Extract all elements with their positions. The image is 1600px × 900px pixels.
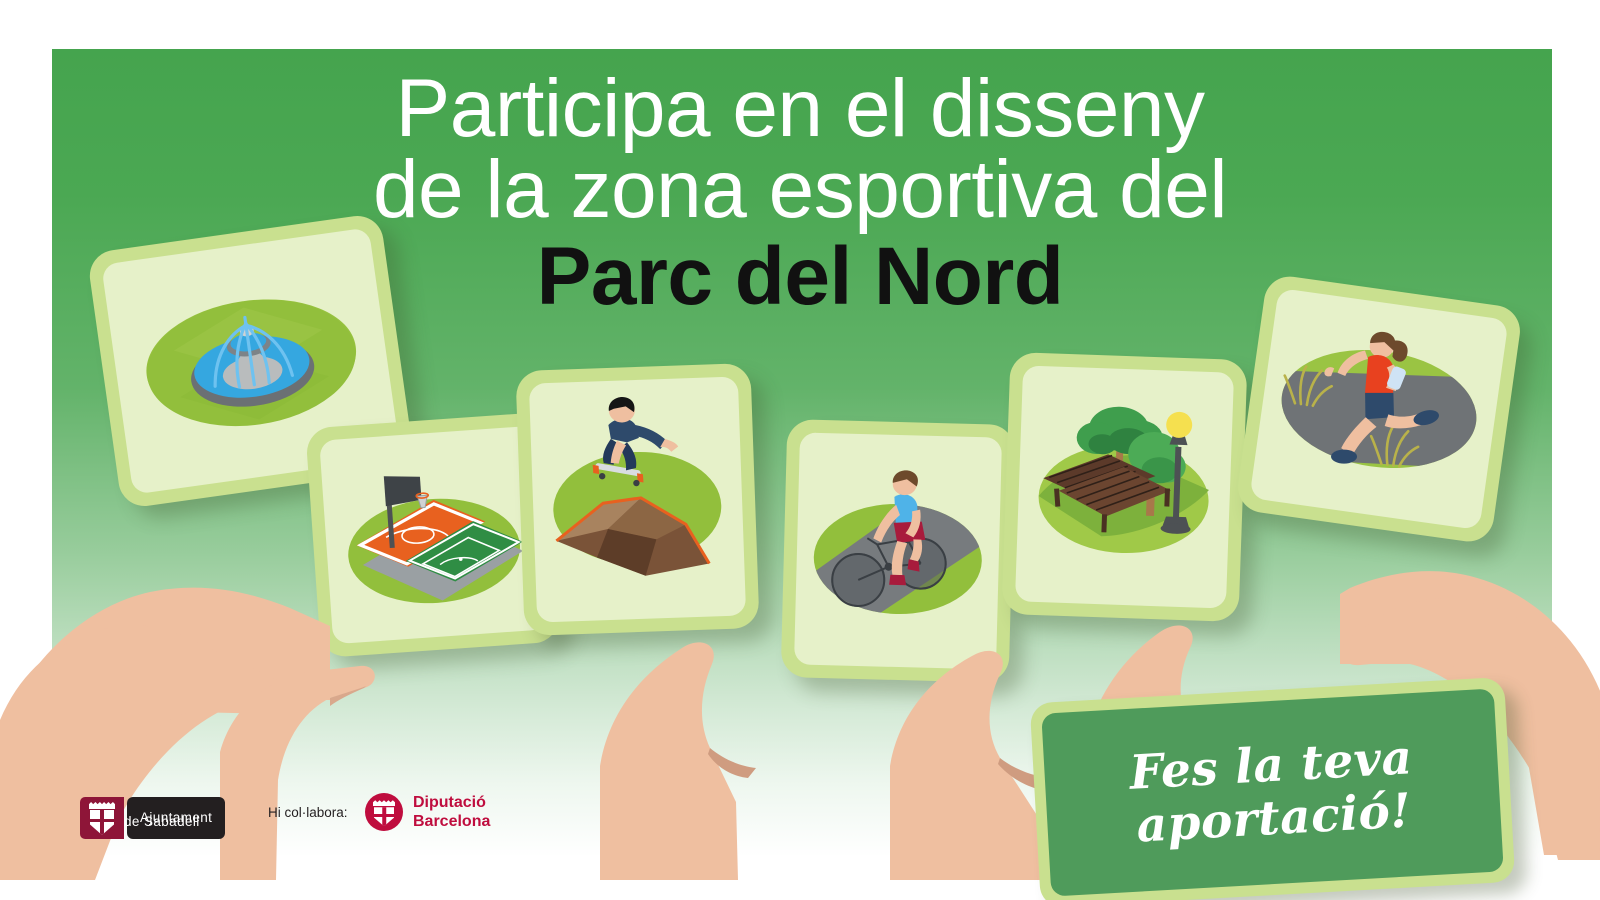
diputacio-wordmark: Diputació Barcelona xyxy=(413,793,490,831)
diputacio-shield-body-icon xyxy=(374,807,394,826)
sabadell-shield-icon xyxy=(80,797,124,839)
footer-logos: Ajuntament de Sabadell Hi col·labora: Di… xyxy=(0,780,1600,900)
diputacio-line-2: Barcelona xyxy=(413,812,490,831)
diputacio-shield-icon xyxy=(365,793,403,831)
shield-body-icon xyxy=(90,810,114,835)
collaborate-label: Hi col·labora: xyxy=(268,805,348,820)
crown-icon xyxy=(89,802,115,809)
ajuntament-line-2-text: de Sabadell xyxy=(124,814,200,829)
logo-diputacio-barcelona[interactable]: Diputació Barcelona xyxy=(365,793,490,831)
diputacio-line-1: Diputació xyxy=(413,793,490,812)
diputacio-crown-icon xyxy=(373,800,395,806)
poster-canvas: Participa en el disseny de la zona espor… xyxy=(0,0,1600,900)
